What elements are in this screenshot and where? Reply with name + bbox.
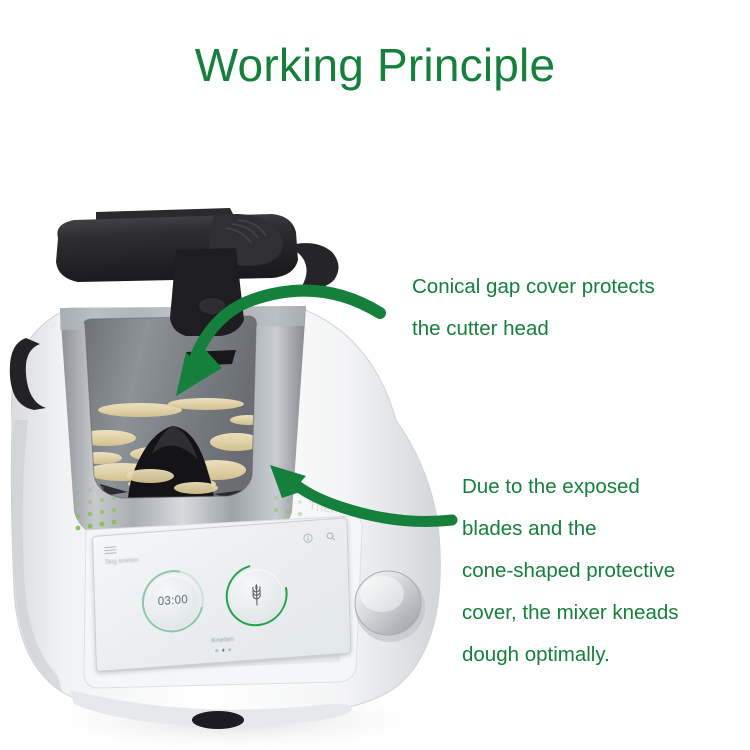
- lid-vent: [199, 298, 225, 314]
- timer-dial[interactable]: 03:00: [141, 568, 205, 635]
- poster-canvas: Working Principle: [0, 0, 750, 750]
- knead-mode-dial[interactable]: [225, 562, 289, 629]
- search-icon[interactable]: [326, 528, 336, 539]
- annotation-line: Conical gap cover protects: [412, 266, 655, 308]
- annotation-exposed-blades: Due to the exposed blades and the cone-s…: [462, 466, 679, 676]
- annotation-line: cone-shaped protective: [462, 550, 679, 592]
- appliance-touchscreen[interactable]: Teig kneten: [92, 517, 351, 672]
- annotation-line: dough optimally.: [462, 634, 679, 676]
- pager-dot[interactable]: [215, 649, 218, 652]
- info-icon[interactable]: [303, 530, 313, 541]
- annotation-line: cover, the mixer kneads: [462, 592, 679, 634]
- annotation-conical-gap-cover: Conical gap cover protects the cutter he…: [412, 266, 655, 350]
- wheat-icon: [248, 584, 265, 607]
- annotation-line: blades and the: [462, 508, 679, 550]
- annotation-line: the cutter head: [412, 308, 655, 350]
- page-title: Working Principle: [0, 38, 750, 92]
- cutaway-window: [76, 316, 266, 520]
- lid-spout: [170, 248, 244, 336]
- annotation-line: Due to the exposed: [462, 466, 679, 508]
- lid-underside: [186, 350, 236, 366]
- recipe-title: Teig kneten: [105, 557, 139, 566]
- appliance-foot: [192, 711, 244, 729]
- screen-toolbar: [303, 528, 336, 540]
- pager-dot[interactable]: [229, 648, 232, 651]
- menu-icon[interactable]: [104, 546, 116, 554]
- timer-value: 03:00: [158, 594, 189, 608]
- pager-dot-active[interactable]: [222, 649, 225, 652]
